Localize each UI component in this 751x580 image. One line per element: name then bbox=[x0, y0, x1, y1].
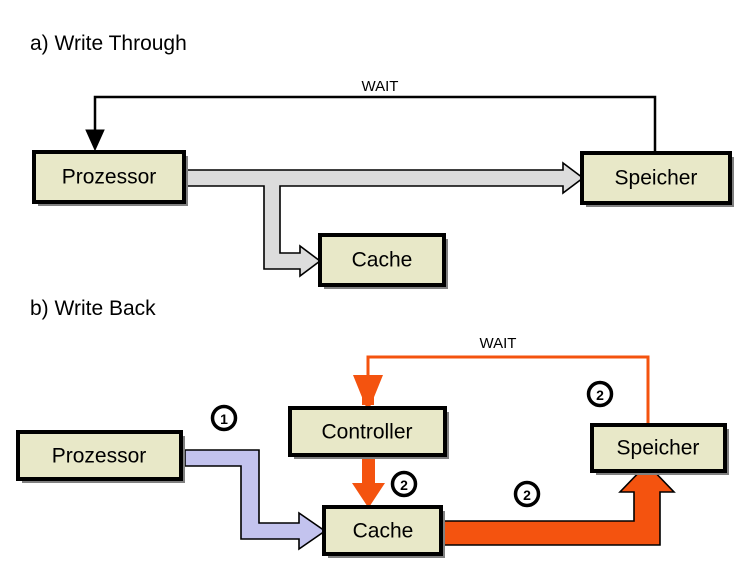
orange-arrow-cache-to-speicher-b bbox=[440, 464, 674, 545]
lavender-arrow-proc-to-cache-b bbox=[185, 450, 325, 549]
wait-label-b: WAIT bbox=[480, 335, 517, 352]
box-controller-b[interactable]: Controller bbox=[290, 408, 449, 459]
section-title-write-back: b) Write Back bbox=[30, 297, 156, 320]
cache-write-policy-diagram: a) Write Through WAIT Prozessor Speicher bbox=[0, 0, 751, 580]
box-label-speicher-b: Speicher bbox=[617, 437, 700, 460]
step-marker-2-speicher-wait: 2 bbox=[589, 383, 612, 406]
section-write-through: a) Write Through WAIT Prozessor Speicher bbox=[30, 32, 734, 289]
step-marker-2-cache-speicher: 2 bbox=[516, 483, 539, 506]
orange-arrow-controller-to-cache-b bbox=[352, 455, 385, 508]
box-speicher-b[interactable]: Speicher bbox=[592, 425, 729, 475]
box-label-prozessor-a: Prozessor bbox=[62, 166, 157, 189]
step-number-label: 1 bbox=[220, 411, 228, 427]
diagram-canvas: a) Write Through WAIT Prozessor Speicher bbox=[0, 0, 751, 580]
arrow-down-icon-controller-cache bbox=[352, 483, 385, 508]
box-label-speicher-a: Speicher bbox=[615, 167, 698, 190]
wait-label-a: WAIT bbox=[362, 78, 399, 95]
section-write-back: b) Write Back WAIT Prozessor bbox=[18, 297, 729, 558]
wait-path-a bbox=[95, 97, 655, 153]
step-number-label: 2 bbox=[400, 477, 408, 493]
arrow-up-icon-cache-to-mem-b bbox=[440, 464, 674, 545]
box-label-cache-b: Cache bbox=[353, 520, 414, 543]
box-label-cache-a: Cache bbox=[352, 249, 413, 272]
section-title-write-through: a) Write Through bbox=[30, 32, 187, 55]
wait-line-a bbox=[86, 97, 655, 153]
step-number-label: 2 bbox=[523, 487, 531, 503]
step-marker-2-controller-cache: 2 bbox=[393, 473, 416, 496]
step-number-label: 2 bbox=[596, 387, 604, 403]
box-speicher-a[interactable]: Speicher bbox=[582, 153, 734, 207]
arrow-right-icon-proc-to-cache-b bbox=[185, 450, 325, 549]
box-label-prozessor-b: Prozessor bbox=[52, 445, 147, 468]
box-cache-a[interactable]: Cache bbox=[320, 235, 448, 289]
arrow-shaft-wait-b bbox=[362, 375, 374, 405]
box-prozessor-b[interactable]: Prozessor bbox=[18, 432, 185, 483]
step-marker-1-proc-cache: 1 bbox=[213, 407, 236, 430]
arrow-down-icon-wait-a bbox=[86, 130, 104, 150]
box-prozessor-a[interactable]: Prozessor bbox=[34, 152, 188, 206]
box-label-controller-b: Controller bbox=[321, 421, 412, 444]
box-cache-b[interactable]: Cache bbox=[324, 507, 445, 558]
